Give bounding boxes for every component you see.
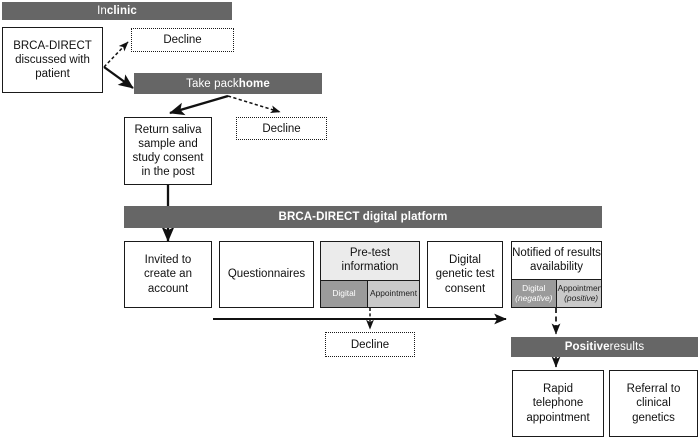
node-label: Invited to create an account [129,253,207,295]
node-label: BRCA-DIRECT discussed with patient [7,39,98,81]
node-label: Decline [351,339,389,351]
node-label: Decline [163,34,201,46]
subcell-note: (negative) [515,294,552,304]
node-return-saliva-sample[interactable]: Return saliva sample and study consent i… [124,117,212,185]
stage-label-digital-platform: BRCA-DIRECT digital platform [279,211,448,223]
pre-test-header: Pre-test information [321,242,419,280]
node-label: Questionnaires [228,267,305,281]
notified-option-digital-negative[interactable]: Digital (negative) [512,280,556,307]
stage-label-in-clinic-emphasis: clinic [107,5,137,17]
notified-option-appointment-positive[interactable]: Appointment (positive) [556,280,602,307]
node-questionnaires[interactable]: Questionnaires [219,241,314,308]
node-pre-test-information[interactable]: Pre-test information Digital Appointment [320,241,420,308]
node-label: Return saliva sample and study consent i… [129,123,207,179]
stage-label-positive-emphasis: Positive [565,341,610,353]
node-decline-platform[interactable]: Decline [325,332,415,357]
pre-test-option-appointment[interactable]: Appointment [367,281,419,307]
node-decline-in-clinic[interactable]: Decline [131,28,234,52]
node-label: Decline [262,123,300,135]
stage-bar-take-pack-home: Take pack home [134,73,322,94]
arrow-takepack-to-saliva [170,96,228,113]
arrow-clinic-to-decline [104,42,128,67]
subcell-label: Appointment [370,289,417,299]
node-decline-take-pack[interactable]: Decline [236,117,327,140]
node-rapid-telephone-appointment[interactable]: Rapid telephone appointment [512,370,604,437]
arrow-clinic-to-takepack [104,67,133,88]
notified-header: Notified of results availability [512,242,601,279]
stage-label-positive-suffix: results [610,341,645,353]
stage-bar-positive-results: Positive results [511,337,698,357]
node-label: Referral to clinical genetics [614,382,693,424]
subcell-note: (positive) [564,294,598,304]
node-notified-of-results[interactable]: Notified of results availability Digital… [511,241,602,308]
notified-options: Digital (negative) Appointment (positive… [512,279,601,307]
stage-bar-in-clinic: In clinic [2,2,232,20]
flowchart-canvas: In clinic BRCA-DIRECT discussed with pat… [0,0,700,439]
stage-label-take-pack-prefix: Take pack [186,78,239,90]
node-brca-discussed-with-patient[interactable]: BRCA-DIRECT discussed with patient [2,27,103,93]
node-referral-clinical-genetics[interactable]: Referral to clinical genetics [609,370,698,437]
stage-bar-digital-platform: BRCA-DIRECT digital platform [124,206,602,228]
node-label: Rapid telephone appointment [517,382,599,424]
stage-label-in-clinic-prefix: In [97,5,107,17]
stage-label-take-pack-emphasis: home [239,78,270,90]
node-label: Digital genetic test consent [432,253,498,295]
pre-test-option-digital[interactable]: Digital [321,281,367,307]
subcell-label: Digital [332,289,355,299]
arrow-takepack-to-decline [228,96,280,112]
pre-test-options: Digital Appointment [321,280,419,307]
node-digital-genetic-test-consent[interactable]: Digital genetic test consent [427,241,503,308]
node-invited-to-create-account[interactable]: Invited to create an account [124,241,212,308]
